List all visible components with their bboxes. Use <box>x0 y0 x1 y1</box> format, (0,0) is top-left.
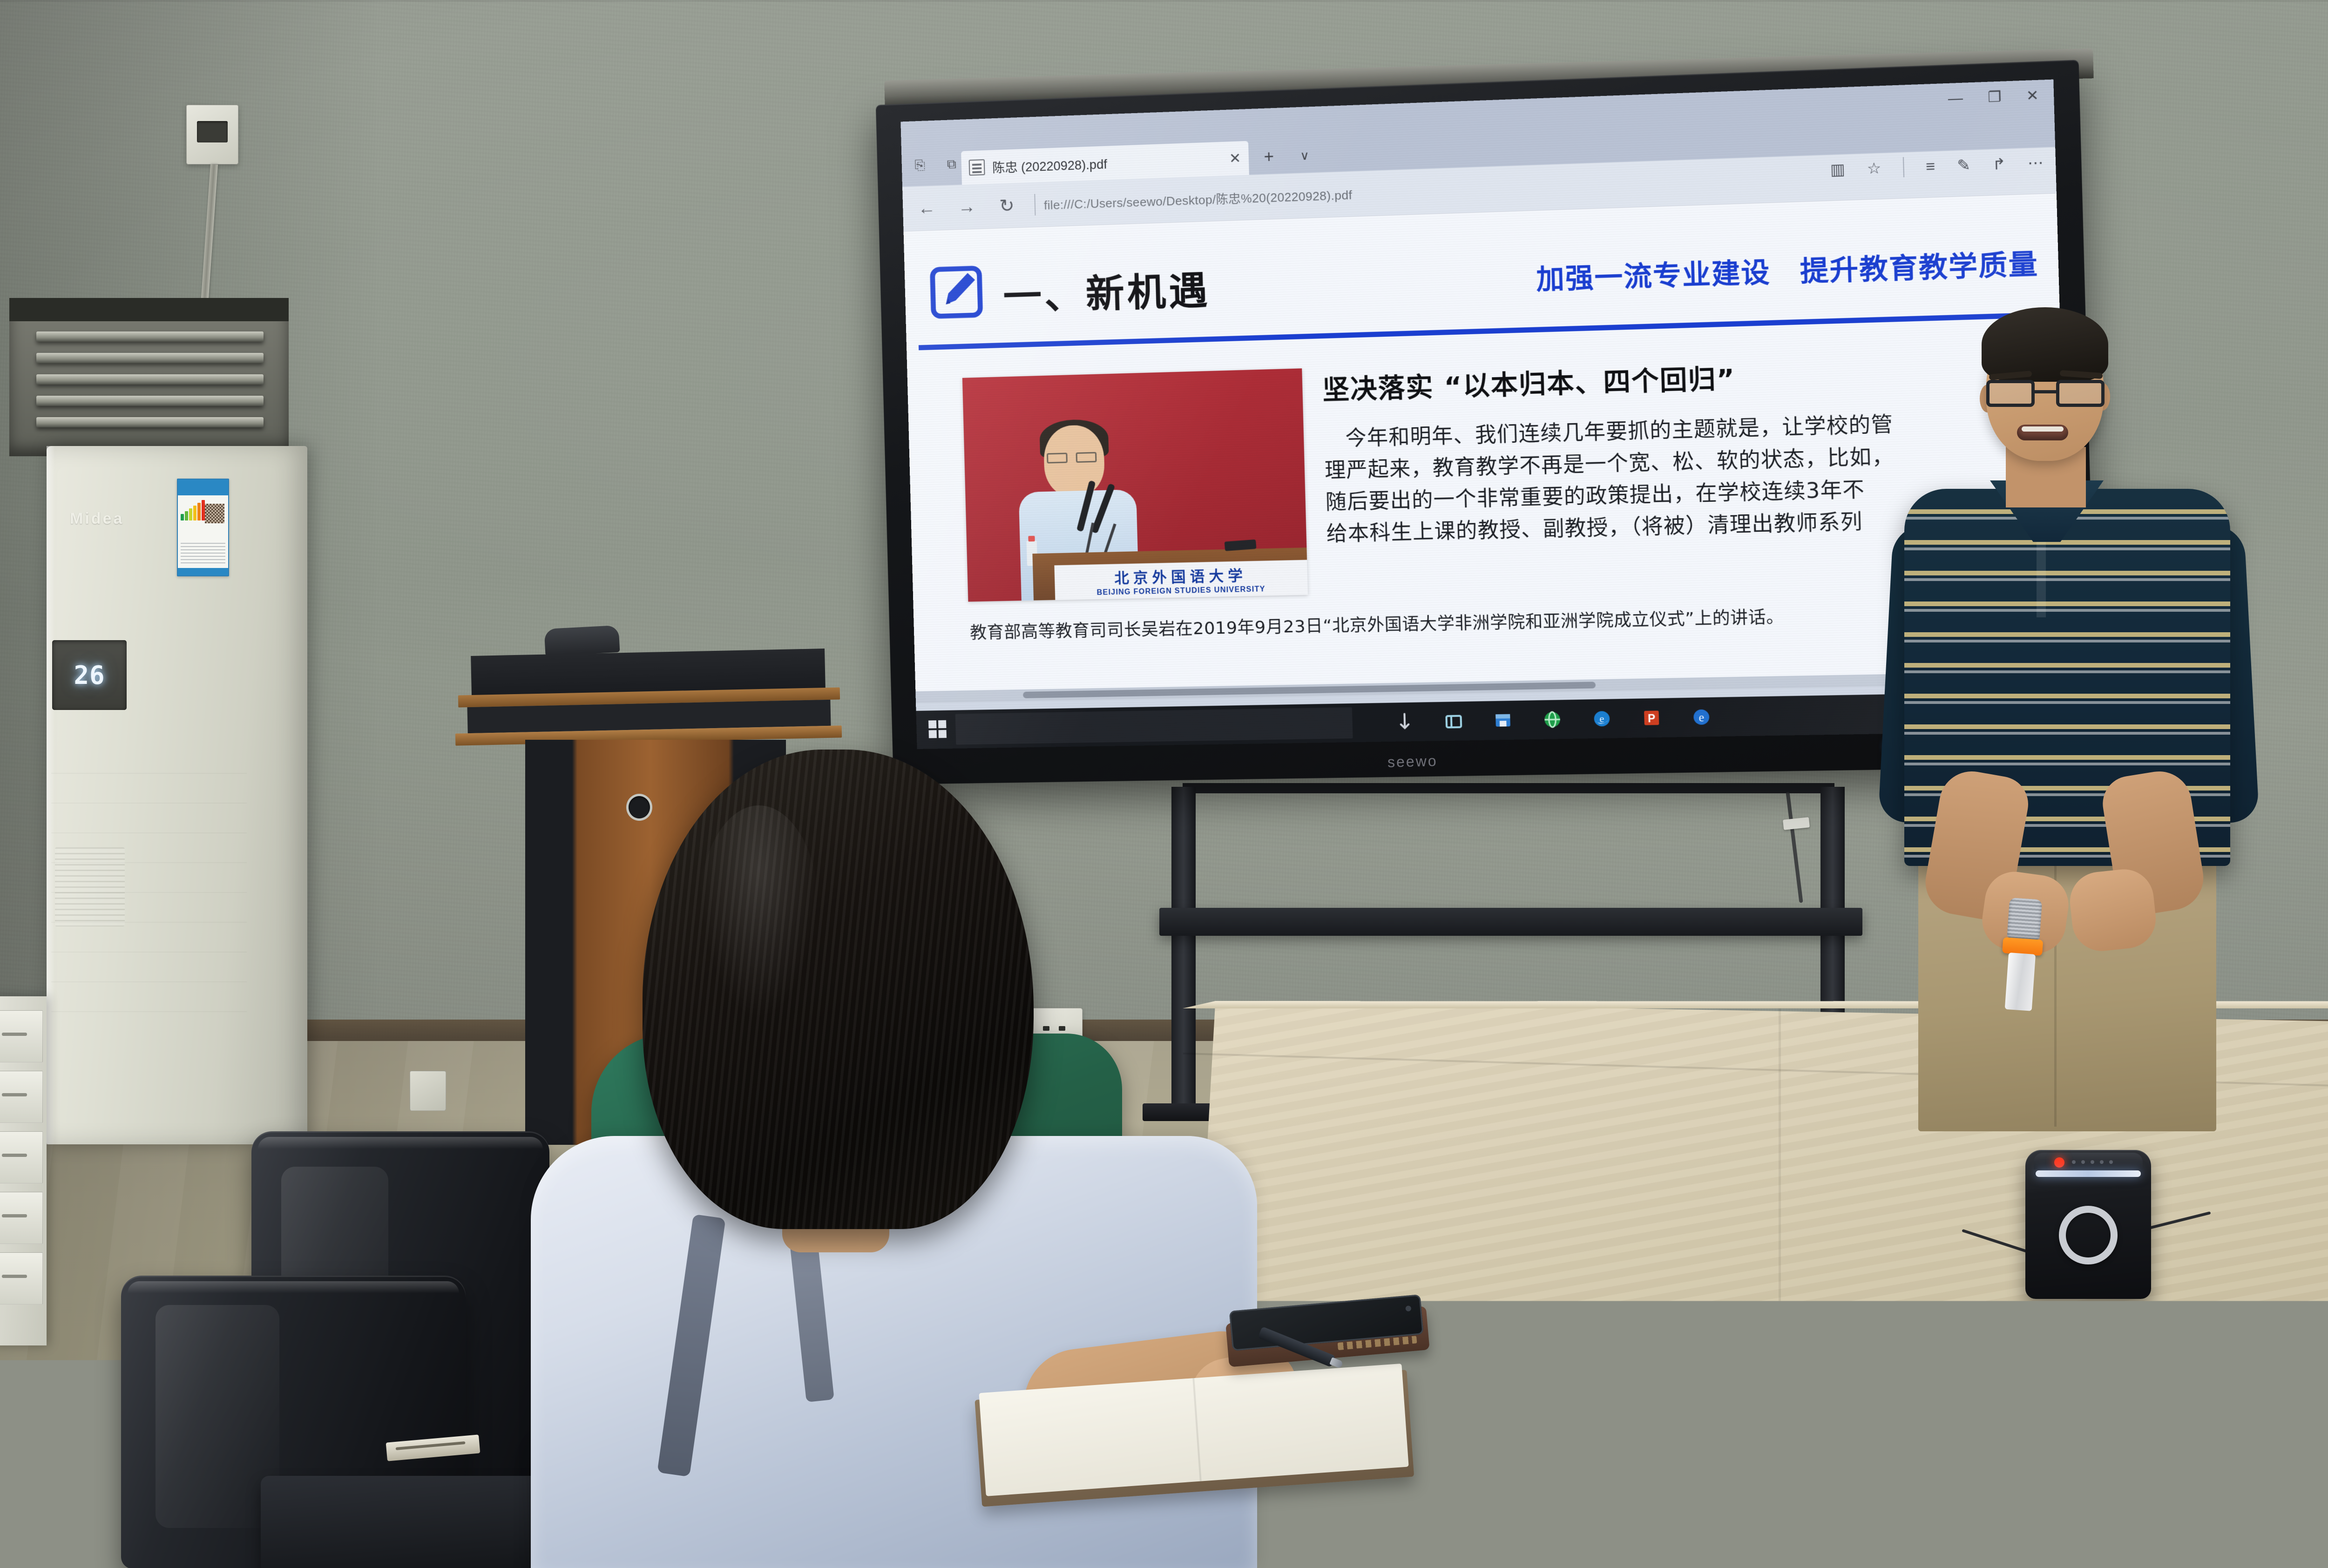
reading-view-icon[interactable]: ▥ <box>1830 160 1845 179</box>
handheld-microphone[interactable] <box>1998 897 2046 1011</box>
photo-speaker-glasses <box>1047 452 1102 463</box>
cabinet-drawer[interactable] <box>0 1010 43 1062</box>
hair-strands <box>643 750 1034 1229</box>
slide-photograph: 北京外国语大学 BEIJING FOREIGN STUDIES UNIVERSI… <box>962 368 1308 602</box>
minimize-button[interactable]: — <box>1948 91 1963 106</box>
note-pencil-icon <box>929 264 985 320</box>
forward-arrow-icon[interactable]: → <box>950 190 983 223</box>
refresh-icon[interactable]: ↻ <box>990 189 1023 223</box>
windows-start-icon[interactable] <box>928 720 947 739</box>
toolbar-divider <box>1903 157 1904 177</box>
display-brand-logo: seewo <box>1387 750 1528 772</box>
speaker-status-led <box>2054 1157 2064 1168</box>
lectern-object <box>544 625 620 656</box>
ac-louver <box>36 374 264 385</box>
favorites-star-icon[interactable]: ☆ <box>1867 159 1881 177</box>
slide-caption: 教育部高等教育司司长吴岩在2019年9月23日“北京外国语大学非洲学院和亚洲学院… <box>969 598 2023 643</box>
qr-code <box>205 504 224 523</box>
label-footer <box>178 568 228 575</box>
tab-title: 陈忠 (20220928).pdf <box>992 150 1222 176</box>
store-icon[interactable] <box>1491 709 1514 731</box>
cabinet-drawer[interactable] <box>0 1131 43 1183</box>
mic-grille <box>2007 898 2042 940</box>
taskbar-search-box[interactable] <box>955 707 1353 745</box>
chevron-down-icon[interactable]: ∨ <box>1300 148 1309 163</box>
window-controls[interactable]: — ❐ ✕ <box>1948 88 2039 106</box>
powerpoint-icon[interactable]: P <box>1640 707 1663 729</box>
ac-led-display: 26 <box>52 640 127 710</box>
wall-junction-box <box>410 1071 446 1111</box>
page-title: 一、新机遇 <box>1002 259 1211 321</box>
svg-text:e: e <box>1699 711 1704 724</box>
web-notes-pen-icon[interactable]: ✎ <box>1957 156 1971 175</box>
speaker-light-strip <box>2036 1170 2141 1177</box>
set-tabs-aside-icon[interactable]: ⎘ <box>912 157 928 173</box>
attendee-hair <box>643 750 1034 1229</box>
drawer-handle[interactable] <box>2 1093 27 1096</box>
pdf-file-icon <box>969 159 985 176</box>
svg-text:P: P <box>1648 712 1656 725</box>
drawer-handle[interactable] <box>2 1214 27 1217</box>
taskbar-pinned-icons[interactable]: e P e <box>1394 706 1713 733</box>
speaker-grille-ring <box>2059 1206 2118 1264</box>
cabinet-drawer[interactable] <box>0 1192 43 1244</box>
ac-louver <box>36 417 264 427</box>
more-settings-icon[interactable]: ⋯ <box>2027 153 2044 172</box>
polo-placket <box>2037 534 2046 617</box>
wall-control-panel <box>186 105 238 164</box>
phone-camera-icon <box>1405 1305 1411 1311</box>
file-explorer-icon[interactable] <box>1442 710 1465 732</box>
tabs-you-set-aside-icon[interactable]: ⧉ <box>943 156 960 172</box>
cabinet-drawer[interactable] <box>0 1071 43 1123</box>
energy-efficiency-label <box>177 479 229 576</box>
back-arrow-icon[interactable]: ← <box>910 191 943 225</box>
ac-brand-label: Midea <box>70 510 177 529</box>
ac-temperature-value: 26 <box>52 640 127 710</box>
speaker-button-row[interactable] <box>2072 1160 2113 1164</box>
ac-vent-shadow <box>9 298 289 321</box>
svg-text:e: e <box>1599 712 1604 724</box>
close-button[interactable]: ✕ <box>2026 88 2039 103</box>
photo-podium-sign: 北京外国语大学 BEIJING FOREIGN STUDIES UNIVERSI… <box>1054 560 1308 600</box>
navbar-divider <box>1034 194 1035 216</box>
hair-highlight <box>698 805 819 1020</box>
standing-presenter <box>1890 307 2244 1034</box>
task-view-icon[interactable] <box>1394 711 1416 733</box>
drawer-handle[interactable] <box>2 1033 27 1036</box>
share-icon[interactable]: ↱ <box>1992 155 2006 173</box>
presenter-glasses <box>1986 380 2105 407</box>
presenter-mouth <box>2017 425 2068 440</box>
internet-explorer-icon[interactable]: e <box>1590 708 1613 730</box>
ac-louver <box>36 353 264 363</box>
mic-handle <box>2005 953 2036 1011</box>
conference-speakerphone[interactable] <box>2025 1150 2151 1299</box>
podium-sign-chinese: 北京外国语大学 <box>1114 563 1247 587</box>
presenter-hair <box>1982 307 2108 382</box>
label-fineprint <box>181 543 225 565</box>
browser-globe-icon[interactable] <box>1541 709 1563 731</box>
chair-piping <box>128 1281 459 1293</box>
conference-room-scene: Midea 26 <box>0 0 2328 1568</box>
edge-icon[interactable]: e <box>1690 706 1713 728</box>
ac-louver <box>36 331 264 342</box>
scrollbar-thumb[interactable] <box>1023 682 1596 698</box>
presenter-hand-right <box>2067 866 2159 954</box>
address-bar[interactable]: file:///C:/Users/seewo/Desktop/陈忠%20(202… <box>1044 185 1353 213</box>
table-seam <box>1779 1001 1781 1568</box>
ac-air-grille <box>55 847 125 926</box>
new-tab-button[interactable]: + <box>1264 147 1274 167</box>
restore-button[interactable]: ❐ <box>1988 90 2002 105</box>
ac-louver <box>36 396 264 406</box>
hub-reading-list-icon[interactable]: ≡ <box>1926 157 1935 176</box>
close-icon[interactable]: ✕ <box>1229 150 1241 167</box>
mic-orange-ring <box>2002 937 2043 956</box>
tabstrip-left-icons[interactable]: ⎘ ⧉ <box>912 156 960 174</box>
cabinet-drawer[interactable] <box>0 1252 43 1304</box>
drawer-handle[interactable] <box>2 1154 27 1157</box>
panel-slot <box>197 121 228 142</box>
side-cabinet <box>0 996 47 1345</box>
slide-header-right-text: 加强一流专业建设 提升教育教学质量 <box>1536 241 2059 297</box>
drawer-handle[interactable] <box>2 1275 27 1278</box>
label-header <box>178 480 228 495</box>
